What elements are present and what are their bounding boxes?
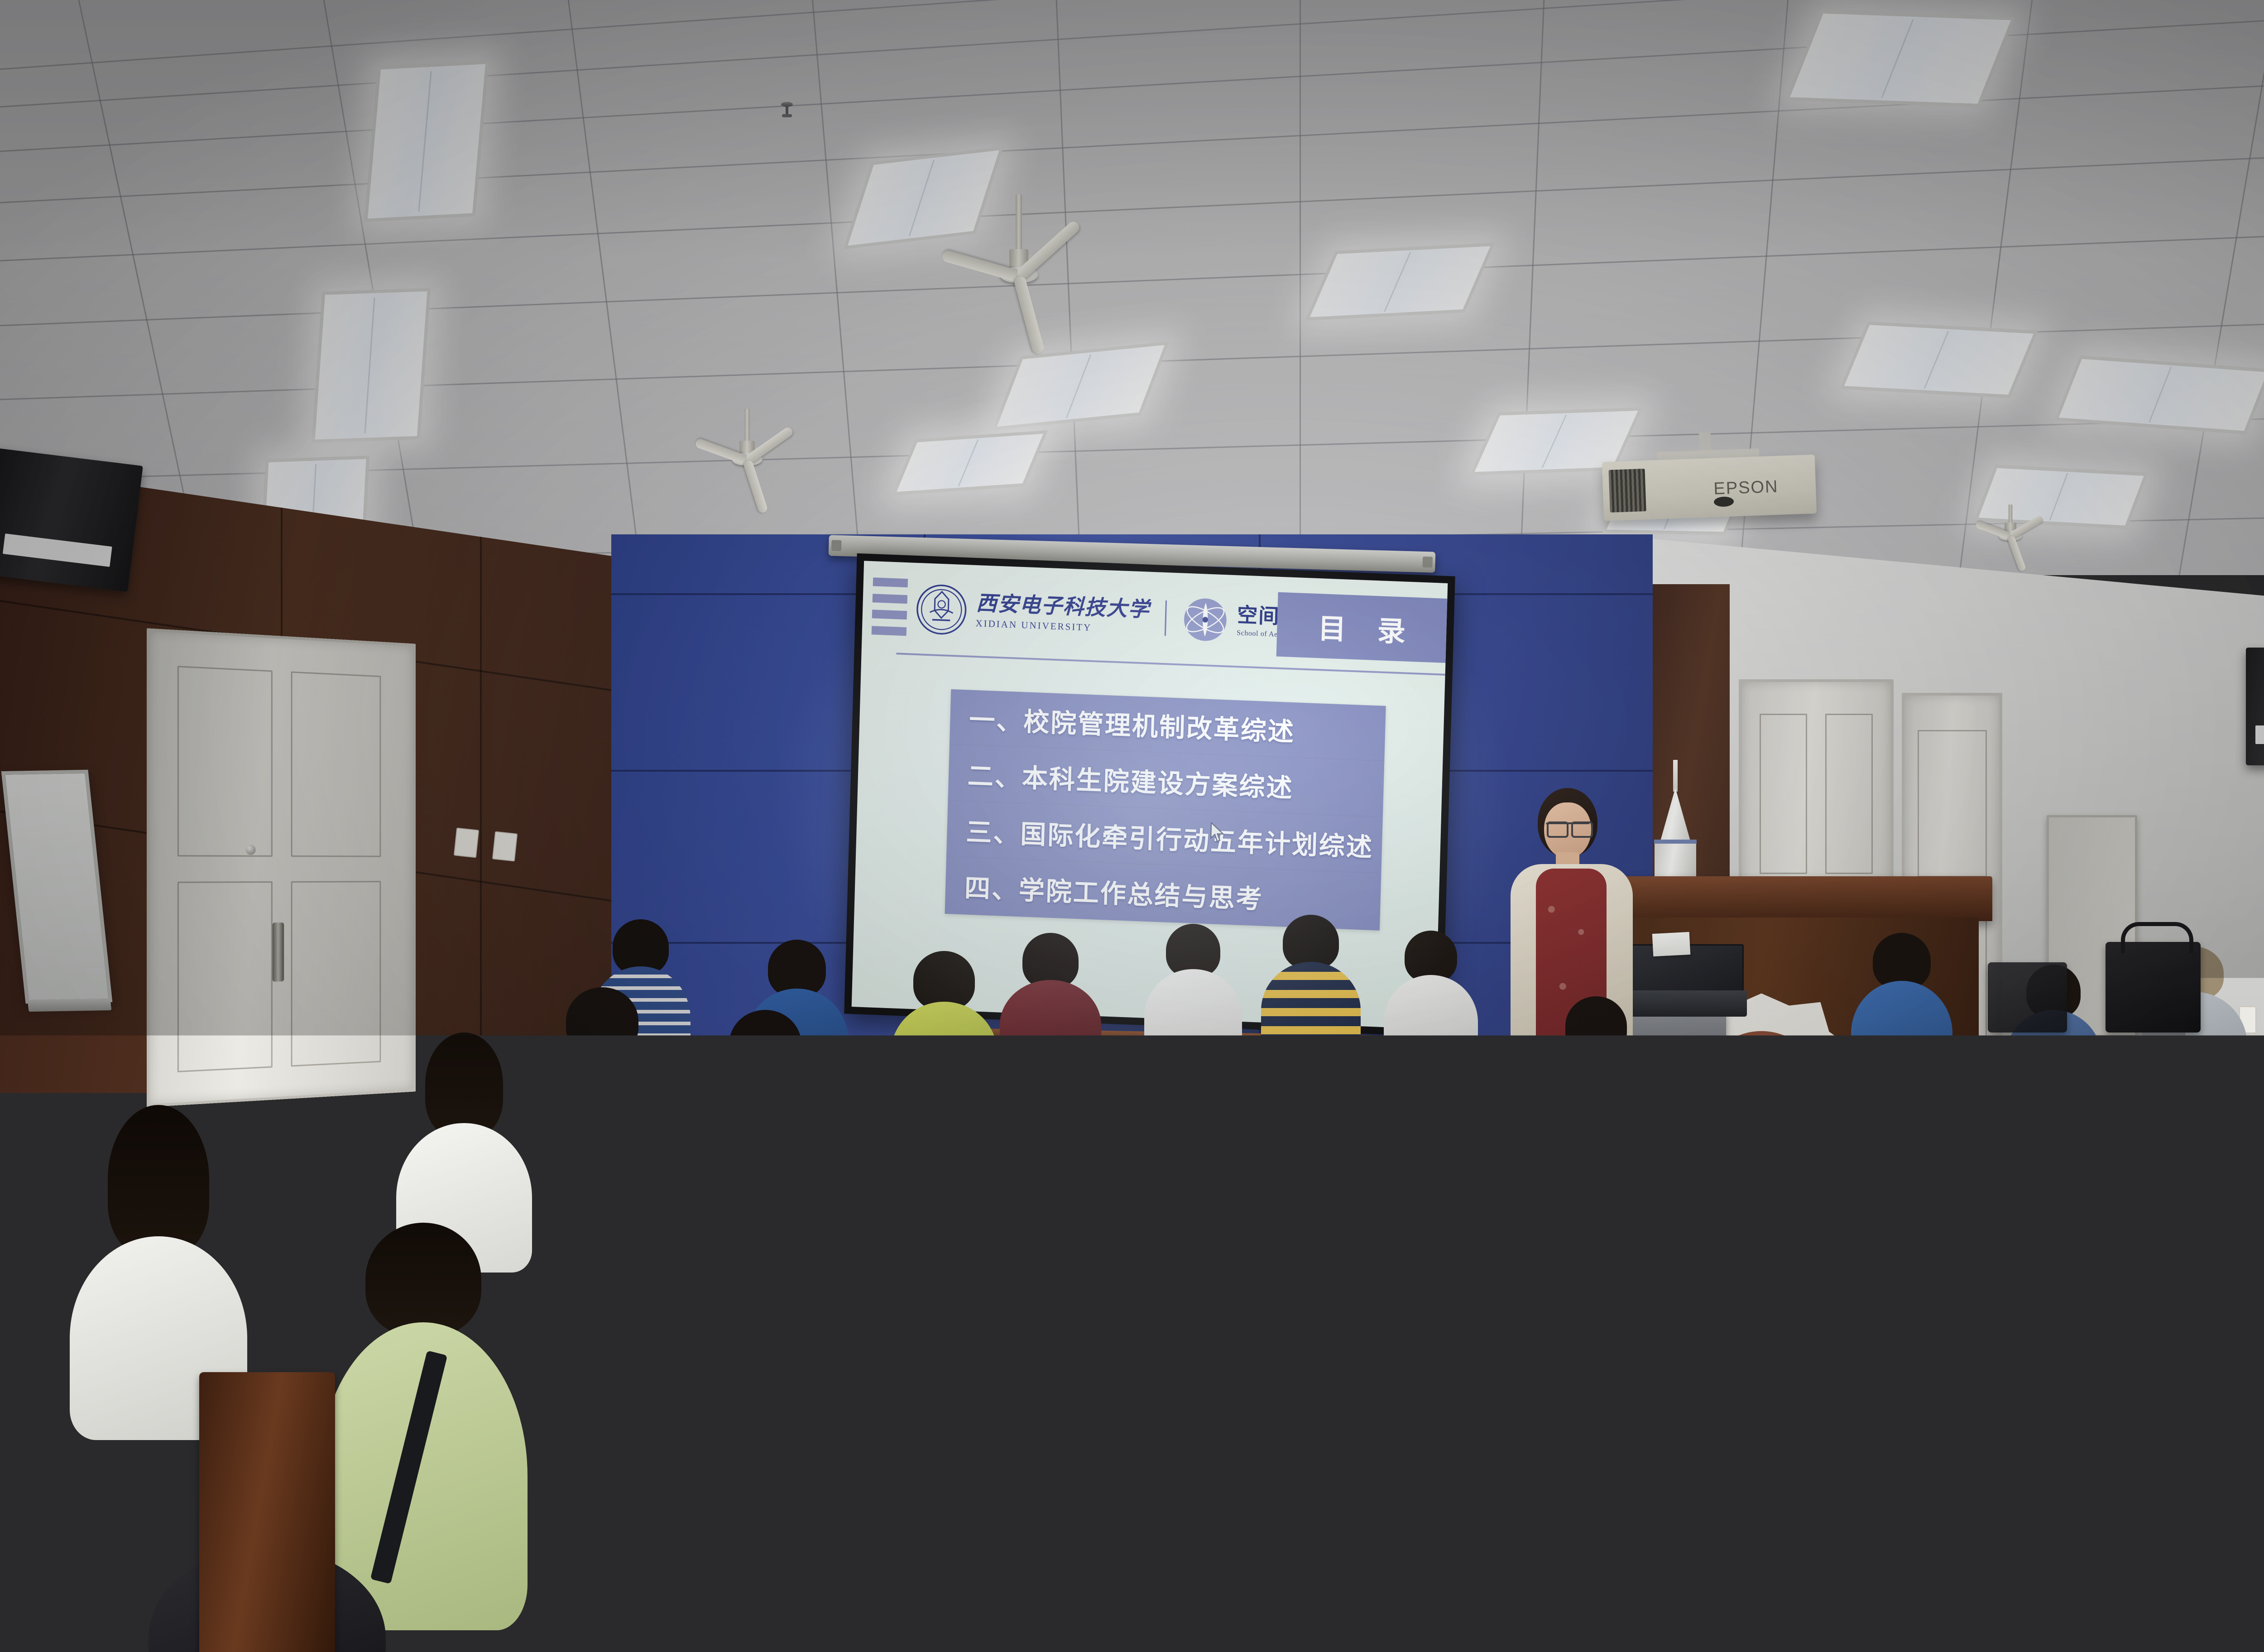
audience-member [860, 1214, 1064, 1594]
backpack [2106, 942, 2201, 1032]
university-name-cn: 西安电子科技大学 [976, 593, 1150, 620]
wall-speaker [2246, 648, 2264, 765]
slide-header: 西安电子科技大学 XIDIAN UNIVERSITY [862, 561, 1448, 674]
projector-brand-label: EPSON [1713, 477, 1779, 499]
door-panel [291, 671, 381, 857]
whiteboard-tray [27, 999, 111, 1012]
door-left[interactable] [147, 628, 416, 1107]
presenter-glasses-icon [1547, 821, 1568, 838]
light-switch[interactable] [492, 831, 518, 862]
audience-member [1381, 931, 1481, 1057]
ceiling-projector: EPSON [1602, 455, 1817, 521]
audience-member [1567, 1096, 1716, 1318]
door-panel [177, 881, 273, 1072]
logo-divider [1165, 600, 1167, 636]
university-name-block: 西安电子科技大学 XIDIAN UNIVERSITY [975, 593, 1150, 636]
door-panel [1825, 714, 1873, 874]
door-panel [291, 881, 381, 1067]
audience-member [1259, 915, 1363, 1046]
header-bars-decoration [871, 578, 908, 636]
ceiling-light-panel [1785, 10, 2015, 107]
audience-member [534, 987, 670, 1177]
fire-sprinkler-icon [781, 102, 793, 119]
ceiling-light-panel [892, 430, 1048, 495]
ceiling-light-panel [1840, 322, 2038, 398]
slide-toc-list: 一、校院管理机制改革综述 二、本科生院建设方案综述 三、国际化牵引行动五年计划综… [945, 689, 1386, 931]
door-panel [177, 666, 273, 857]
school-crest-icon [1181, 595, 1230, 644]
audience-member [1141, 924, 1245, 1051]
audience-member [1123, 1055, 1272, 1277]
speaker-brand-plate [3, 533, 112, 567]
door-panel [1760, 714, 1807, 874]
chair [2015, 1458, 2151, 1652]
slide-section-tab: 目 录 [1276, 592, 1448, 663]
ceiling-fan [1982, 504, 2039, 555]
backpack [1988, 962, 2067, 1032]
audience-member [1847, 933, 1956, 1069]
chair [743, 1304, 838, 1494]
audience-member [394, 1032, 534, 1245]
svg-text:1931: 1931 [1749, 1142, 1774, 1156]
ceiling-light-panel [364, 61, 489, 222]
chair [539, 1426, 688, 1652]
audience-member [1372, 1082, 1521, 1304]
door-panel [1918, 730, 1987, 877]
audience-member [1820, 1254, 2033, 1652]
chair [1349, 1413, 1472, 1652]
projector-vent [1609, 469, 1646, 512]
ceiling-fan [951, 195, 1087, 331]
bag-strap [2121, 922, 2194, 953]
lecture-hall-photo: EPSON [0, 0, 2264, 1652]
ceiling-light-panel [312, 288, 431, 443]
chair [1693, 1368, 1820, 1652]
wall-speaker [0, 448, 143, 592]
presenter-glasses-icon [1571, 821, 1593, 838]
xidian-crest-icon [915, 582, 969, 637]
ceiling-fan [704, 409, 791, 492]
chair [199, 1372, 335, 1652]
speaker-brand-plate [2255, 725, 2264, 744]
light-switch[interactable] [454, 828, 479, 858]
slide-section-tab-label: 目 录 [1306, 605, 1418, 650]
chair [1055, 1359, 1191, 1652]
door-peephole [246, 845, 256, 855]
chair [1304, 1196, 1381, 1345]
ceiling-light-panel [2054, 355, 2264, 434]
audience-member [1435, 1304, 1680, 1652]
university-name-en: XIDIAN UNIVERSITY [975, 618, 1149, 636]
mouse-cursor-icon [1210, 822, 1226, 842]
door-handle[interactable] [273, 922, 284, 982]
paper-note [1652, 932, 1691, 956]
audience-member [996, 933, 1105, 1055]
